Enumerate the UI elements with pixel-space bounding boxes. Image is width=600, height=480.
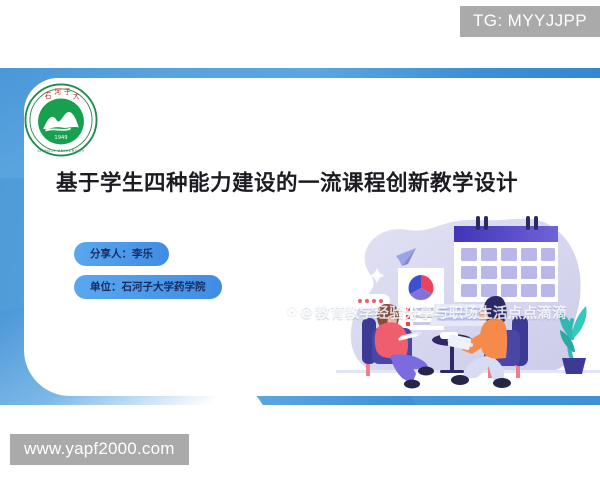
organization-pill: 单位：石河子大学药学院 bbox=[74, 275, 222, 299]
presenter-pill: 分享人：李乐 bbox=[74, 242, 169, 266]
site-url-watermark: www.yapf2000.com bbox=[10, 434, 189, 465]
channel-watermark: ☉ @ 教育教学经验分享与职场生活点点滴滴 bbox=[286, 302, 567, 323]
svg-text:河: 河 bbox=[54, 88, 61, 96]
watermark-logo-icon: ☉ bbox=[286, 305, 298, 320]
shihezi-university-emblem-icon: 石 河 子 大 1949 SHIHEZI UNIVERSITY bbox=[24, 83, 98, 157]
presentation-slide: 石 河 子 大 1949 SHIHEZI UNIVERSITY 基于学生四种能力… bbox=[0, 68, 600, 405]
presenter-info-group: 分享人：李乐 单位：石河子大学药学院 bbox=[74, 242, 222, 308]
svg-text:SHIHEZI UNIVERSITY: SHIHEZI UNIVERSITY bbox=[37, 148, 85, 153]
calendar-icon bbox=[454, 216, 558, 302]
svg-text:1949: 1949 bbox=[54, 135, 67, 141]
svg-text:子: 子 bbox=[64, 88, 71, 96]
svg-text:石: 石 bbox=[45, 92, 52, 100]
telegram-tag-watermark: TG: MYYJJPP bbox=[460, 6, 600, 37]
watermark-text: 教育教学经验分享与职场生活点点滴滴 bbox=[315, 302, 567, 323]
watermark-at-icon: @ bbox=[300, 305, 313, 320]
svg-text:大: 大 bbox=[73, 92, 80, 101]
page-title: 基于学生四种能力建设的一流课程创新教学设计 bbox=[56, 166, 556, 197]
